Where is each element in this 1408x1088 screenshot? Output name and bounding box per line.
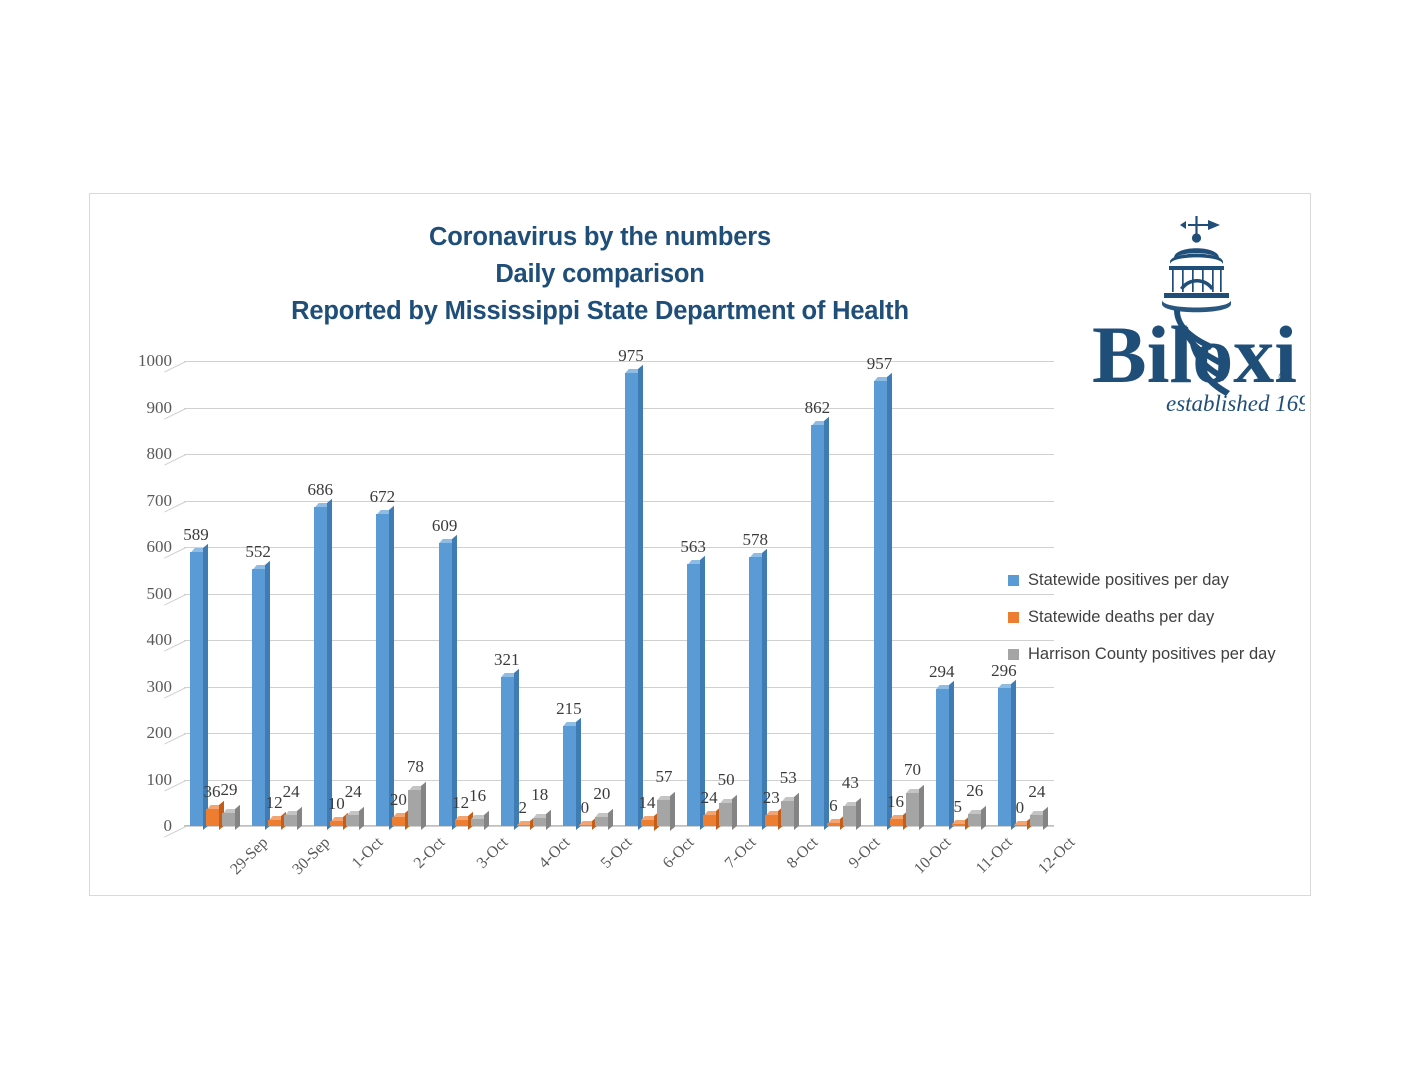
- bar-face: [968, 814, 981, 826]
- y-axis-tick-label: 0: [164, 816, 173, 836]
- bar-1[interactable]: [765, 815, 778, 826]
- bar-side-face: [638, 364, 643, 830]
- chart-title-line-2: Daily comparison: [150, 256, 1050, 293]
- bar-value-label: 43: [842, 773, 859, 793]
- logo-tagline: established 1699: [1166, 391, 1305, 416]
- y-axis-tick-label: 600: [147, 537, 173, 557]
- bar-value-label: 23: [763, 788, 780, 808]
- bar-2[interactable]: [346, 815, 359, 826]
- y-axis-tick-label: 800: [147, 444, 173, 464]
- x-axis-label: 9-Oct: [846, 834, 884, 872]
- bar-side-face: [389, 505, 394, 830]
- bar-1[interactable]: [392, 817, 405, 826]
- bar-2[interactable]: [595, 817, 608, 826]
- bar-group: 9571670: [868, 361, 930, 826]
- bar-value-label: 672: [370, 487, 396, 507]
- bar-value-label: 16: [469, 786, 486, 806]
- bar-value-label: 563: [680, 537, 706, 557]
- bar-2[interactable]: [222, 813, 235, 826]
- bar-group: 6091216: [433, 361, 495, 826]
- bar-value-label: 609: [432, 516, 458, 536]
- bar-value-label: 53: [780, 768, 797, 788]
- bar-0[interactable]: [501, 677, 514, 826]
- x-axis-labels: 29-Sep30-Sep1-Oct2-Oct3-Oct4-Oct5-Oct6-O…: [184, 826, 1054, 896]
- bar-face: [936, 689, 949, 826]
- bar-group: 9751457: [619, 361, 681, 826]
- bar-side-face: [919, 785, 924, 830]
- logo-wordmark: Biloxi: [1092, 309, 1297, 400]
- bar-face: [625, 373, 638, 826]
- bar-0[interactable]: [190, 552, 203, 826]
- bar-2[interactable]: [781, 801, 794, 826]
- bar-0[interactable]: [874, 381, 887, 826]
- bar-value-label: 0: [581, 798, 590, 818]
- bar-face: [206, 809, 219, 826]
- bar-face: [998, 688, 1011, 826]
- bar-value-label: 10: [328, 794, 345, 814]
- bar-value-label: 589: [183, 525, 209, 545]
- bar-value-label: 12: [266, 793, 283, 813]
- bar-0[interactable]: [625, 373, 638, 826]
- y-axis-tick-label: 200: [147, 723, 173, 743]
- bar-value-label: 16: [887, 792, 904, 812]
- x-axis-label: 11-Oct: [973, 834, 1017, 878]
- chart-title-line-3: Reported by Mississippi State Department…: [150, 293, 1050, 330]
- bar-2[interactable]: [284, 815, 297, 826]
- bar-value-label: 552: [245, 542, 271, 562]
- legend-swatch-2: [1008, 649, 1019, 660]
- chart-title-line-1: Coronavirus by the numbers: [150, 219, 1050, 256]
- bar-face: [703, 815, 716, 826]
- legend-item-0[interactable]: Statewide positives per day: [1008, 562, 1308, 599]
- bar-0[interactable]: [936, 689, 949, 826]
- legend-swatch-1: [1008, 612, 1019, 623]
- bar-value-label: 294: [929, 662, 955, 682]
- bar-value-label: 36: [204, 782, 221, 802]
- bar-2[interactable]: [906, 793, 919, 826]
- bar-group: 5782353: [743, 361, 805, 826]
- bar-side-face: [887, 373, 892, 830]
- y-axis-tick-label: 300: [147, 677, 173, 697]
- x-axis-label: 1-Oct: [349, 834, 387, 872]
- biloxi-logo: Biloxi ® established 1699: [1090, 214, 1305, 424]
- plot-area: 10009008007006005004003002001000 5893629…: [184, 361, 1054, 826]
- bar-face: [439, 543, 452, 826]
- x-axis-label: 4-Oct: [535, 834, 573, 872]
- bar-face: [252, 569, 265, 826]
- bar-side-face: [794, 793, 799, 830]
- bar-1[interactable]: [206, 809, 219, 826]
- bar-group: 6722078: [370, 361, 432, 826]
- bar-0[interactable]: [749, 557, 762, 826]
- y-axis-tick-label: 100: [147, 770, 173, 790]
- chart-title: Coronavirus by the numbers Daily compari…: [150, 219, 1050, 330]
- bar-group: 5632450: [681, 361, 743, 826]
- bar-0[interactable]: [439, 543, 452, 826]
- bar-value-label: 321: [494, 650, 520, 670]
- bar-value-label: 5: [953, 797, 962, 817]
- bar-face: [222, 813, 235, 826]
- bar-2[interactable]: [843, 806, 856, 826]
- bar-face: [501, 677, 514, 826]
- bar-side-face: [327, 499, 332, 830]
- bar-group: 5893629: [184, 361, 246, 826]
- bar-face: [843, 806, 856, 826]
- bar-value-label: 18: [531, 785, 548, 805]
- legend-label-2: Harrison County positives per day: [1028, 645, 1276, 664]
- bar-value-label: 26: [966, 781, 983, 801]
- bar-face: [471, 819, 484, 826]
- bar-group: 862643: [805, 361, 867, 826]
- legend-swatch-0: [1008, 575, 1019, 586]
- bar-0[interactable]: [376, 514, 389, 826]
- y-axis-tick-label: 400: [147, 630, 173, 650]
- bar-group: 294526: [930, 361, 992, 826]
- bar-face: [657, 800, 670, 827]
- bar-side-face: [452, 535, 457, 830]
- bar-group: 215020: [557, 361, 619, 826]
- bar-2[interactable]: [471, 819, 484, 826]
- bar-value-label: 975: [618, 346, 644, 366]
- bar-side-face: [732, 795, 737, 830]
- x-axis-label: 10-Oct: [911, 834, 955, 878]
- bar-face: [906, 793, 919, 826]
- bar-1[interactable]: [703, 815, 716, 826]
- bar-2[interactable]: [968, 814, 981, 826]
- bar-0[interactable]: [687, 564, 700, 826]
- x-axis-label: 8-Oct: [784, 834, 822, 872]
- x-axis-label: 5-Oct: [598, 834, 636, 872]
- bar-2[interactable]: [408, 790, 421, 826]
- y-axis-tick-label: 500: [147, 584, 173, 604]
- legend-label-1: Statewide deaths per day: [1028, 608, 1214, 627]
- bar-face: [890, 819, 903, 826]
- bar-face: [392, 817, 405, 826]
- legend-item-1[interactable]: Statewide deaths per day: [1008, 599, 1308, 636]
- bar-value-label: 215: [556, 699, 582, 719]
- bar-value-label: 24: [345, 782, 362, 802]
- bar-face: [190, 552, 203, 826]
- x-axis-label: 6-Oct: [660, 834, 698, 872]
- y-axis-tick-label: 1000: [138, 351, 172, 371]
- bar-face: [781, 801, 794, 826]
- legend-label-0: Statewide positives per day: [1028, 571, 1229, 590]
- bar-0[interactable]: [563, 726, 576, 826]
- bar-value-label: 578: [743, 530, 769, 550]
- bar-face: [408, 790, 421, 826]
- bar-0[interactable]: [811, 425, 824, 826]
- x-axis-label: 30-Sep: [289, 834, 334, 879]
- bar-0[interactable]: [998, 688, 1011, 826]
- bar-face: [1030, 815, 1043, 826]
- bar-face: [811, 425, 824, 826]
- bar-0[interactable]: [252, 569, 265, 826]
- bar-value-label: 686: [308, 480, 334, 500]
- bar-face: [874, 381, 887, 826]
- chart-frame: Coronavirus by the numbers Daily compari…: [89, 193, 1311, 896]
- bar-value-label: 0: [1016, 798, 1025, 818]
- bar-2[interactable]: [657, 800, 670, 827]
- bar-face: [314, 507, 327, 826]
- bar-face: [595, 817, 608, 826]
- bar-value-label: 24: [701, 788, 718, 808]
- x-axis-label: 3-Oct: [473, 834, 511, 872]
- bar-1[interactable]: [890, 819, 903, 826]
- legend-item-2[interactable]: Harrison County positives per day: [1008, 636, 1308, 673]
- bar-groups: 5893629552122468610246722078609121632121…: [184, 361, 1054, 826]
- bar-face: [687, 564, 700, 826]
- bar-0[interactable]: [314, 507, 327, 826]
- bar-value-label: 862: [805, 398, 831, 418]
- bar-2[interactable]: [719, 803, 732, 826]
- bar-face: [563, 726, 576, 826]
- bar-value-label: 78: [407, 757, 424, 777]
- bar-side-face: [670, 791, 675, 830]
- bar-value-label: 29: [221, 780, 238, 800]
- bar-2[interactable]: [533, 818, 546, 826]
- bar-group: 321218: [495, 361, 557, 826]
- bar-value-label: 50: [718, 770, 735, 790]
- bar-face: [749, 557, 762, 826]
- bar-value-label: 12: [452, 793, 469, 813]
- bar-value-label: 957: [867, 354, 893, 374]
- x-axis-label: 12-Oct: [1035, 834, 1079, 878]
- bar-value-label: 20: [593, 784, 610, 804]
- bar-group: 6861024: [308, 361, 370, 826]
- bar-face: [719, 803, 732, 826]
- bar-value-label: 20: [390, 790, 407, 810]
- x-axis-label: 2-Oct: [411, 834, 449, 872]
- bar-side-face: [265, 561, 270, 830]
- x-axis-label: 29-Sep: [227, 834, 272, 879]
- bar-value-label: 24: [283, 782, 300, 802]
- bar-group: 5521224: [246, 361, 308, 826]
- bar-value-label: 6: [829, 796, 838, 816]
- y-axis-tick-label: 700: [147, 491, 173, 511]
- bar-face: [284, 815, 297, 826]
- bar-value-label: 24: [1028, 782, 1045, 802]
- x-axis-label: 7-Oct: [722, 834, 760, 872]
- chart-legend: Statewide positives per dayStatewide dea…: [1008, 562, 1308, 673]
- bar-face: [376, 514, 389, 826]
- bar-face: [346, 815, 359, 826]
- logo-registered-mark: ®: [1278, 369, 1290, 386]
- bar-face: [765, 815, 778, 826]
- bar-side-face: [421, 782, 426, 830]
- bar-side-face: [824, 417, 829, 830]
- y-axis-tick-label: 900: [147, 398, 173, 418]
- bar-face: [533, 818, 546, 826]
- bar-value-label: 57: [655, 767, 672, 787]
- bar-value-label: 2: [518, 798, 527, 818]
- bar-2[interactable]: [1030, 815, 1043, 826]
- bar-value-label: 14: [638, 793, 655, 813]
- bar-value-label: 70: [904, 760, 921, 780]
